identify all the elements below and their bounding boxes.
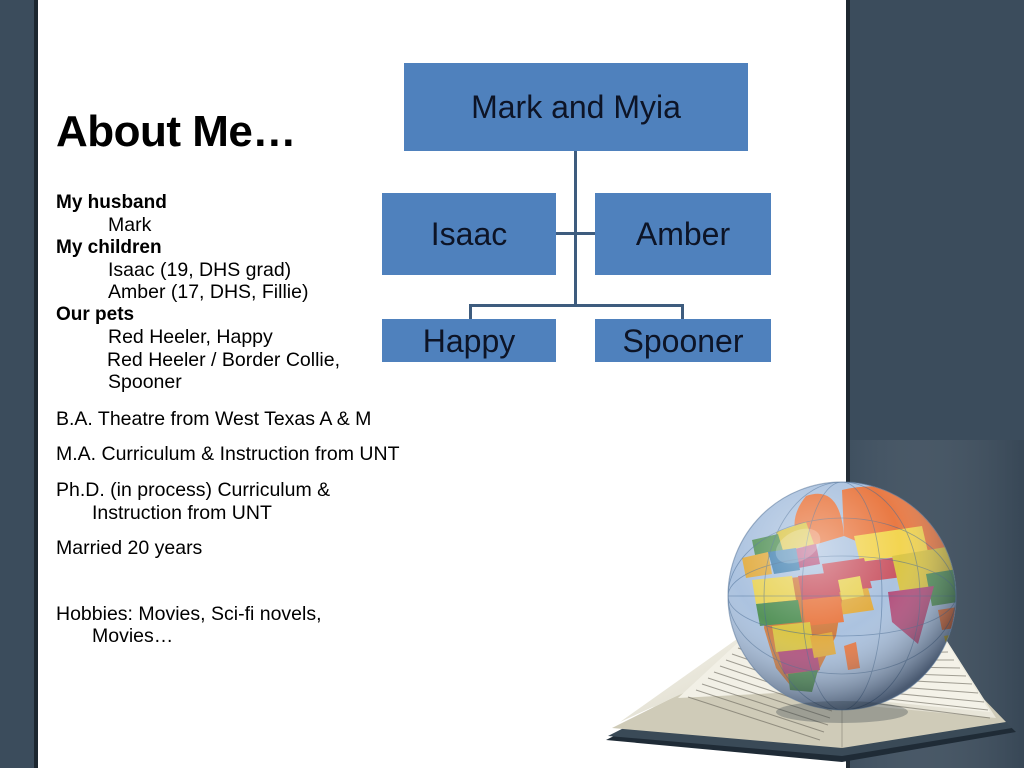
- org-node-pet-left[interactable]: Happy: [382, 319, 556, 362]
- body-heading-pets: Our pets: [56, 304, 408, 326]
- body-text-column: My husband Mark My children Isaac (19, D…: [56, 192, 408, 648]
- body-fact-ba: B.A. Theatre from West Texas A & M: [56, 408, 408, 431]
- slide: About Me… My husband Mark My children Is…: [0, 0, 1024, 768]
- left-decor-band: [0, 0, 34, 768]
- body-item-happy: Red Heeler, Happy: [56, 326, 408, 349]
- body-fact-ma: M.A. Curriculum & Instruction from UNT: [56, 443, 408, 466]
- body-fact-phd: Ph.D. (in process) Curriculum & Instruct…: [56, 479, 408, 524]
- org-node-child-right[interactable]: Amber: [595, 193, 771, 275]
- body-item-isaac: Isaac (19, DHS grad): [56, 259, 408, 282]
- org-node-root[interactable]: Mark and Myia: [404, 63, 748, 151]
- body-heading-husband: My husband: [56, 192, 408, 214]
- body-item-mark: Mark: [56, 214, 408, 237]
- body-heading-children: My children: [56, 237, 408, 259]
- body-item-amber: Amber (17, DHS, Fillie): [56, 281, 408, 304]
- page-title: About Me…: [56, 108, 456, 156]
- body-fact-married: Married 20 years: [56, 537, 408, 560]
- left-decor-edge: [34, 0, 38, 768]
- org-node-pet-right[interactable]: Spooner: [595, 319, 771, 362]
- body-fact-hobbies: Hobbies: Movies, Sci-fi novels, Movies…: [56, 603, 408, 648]
- body-spacer: [56, 560, 408, 590]
- body-item-spooner: Red Heeler / Border Collie, Spooner: [56, 349, 408, 394]
- org-node-child-left[interactable]: Isaac: [382, 193, 556, 275]
- right-decor-band: [850, 0, 1024, 768]
